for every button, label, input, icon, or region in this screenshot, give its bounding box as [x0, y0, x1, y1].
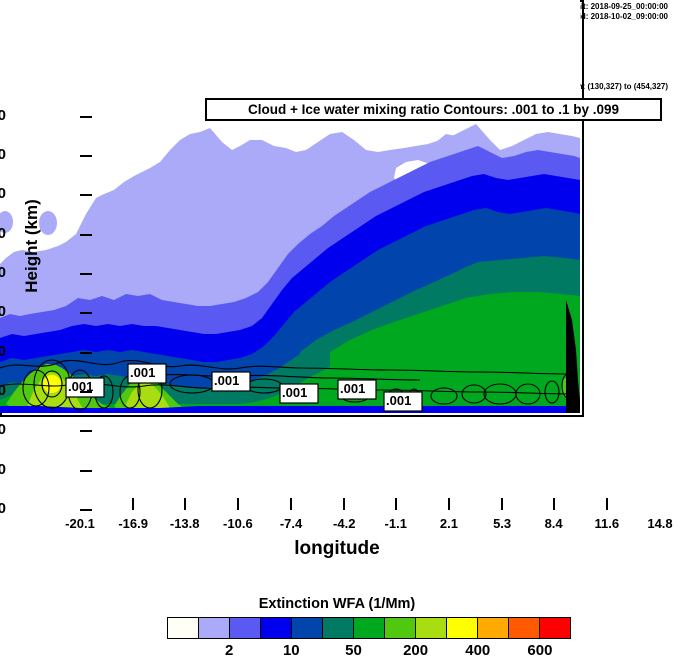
y-tick-label: 7.0	[0, 225, 6, 242]
colorbar-swatch	[323, 618, 354, 638]
colorbar-tick-label: 400	[448, 642, 508, 659]
colorbar-tick-label: 2	[199, 642, 259, 659]
cross-section-plot: .001 .001 .001 .001 .001 .001	[0, 0, 584, 417]
y-axis-title: Height (km)	[22, 166, 42, 326]
x-tick-mark	[237, 498, 239, 510]
colorbar-swatch	[416, 618, 447, 638]
colorbar	[167, 617, 571, 639]
colorbar-tick-label: 200	[386, 642, 446, 659]
contour-label: .001	[130, 365, 155, 380]
y-tick-mark	[80, 391, 92, 393]
colorbar-swatch	[385, 618, 416, 638]
colorbar-swatch	[199, 618, 230, 638]
y-tick-label: 8.0	[0, 185, 6, 202]
y-tick-mark	[80, 155, 92, 157]
contour-label: .001	[214, 373, 239, 388]
x-tick-mark	[184, 498, 186, 510]
y-tick-label: 10.0	[0, 107, 6, 124]
contour-label: .001	[340, 381, 365, 396]
y-tick-label: 2.0	[0, 421, 6, 438]
colorbar-swatch	[447, 618, 478, 638]
x-tick-mark	[606, 498, 608, 510]
colorbar-strip	[167, 617, 571, 639]
yellow-core	[43, 375, 61, 393]
colorbar-tick-label: 600	[510, 642, 570, 659]
y-tick-mark	[80, 430, 92, 432]
x-tick-mark	[290, 498, 292, 510]
y-tick-mark	[80, 194, 92, 196]
x-tick-mark	[448, 498, 450, 510]
contour-title-text: Cloud + Ice water mixing ratio Contours:…	[248, 102, 619, 117]
x-tick-mark	[132, 498, 134, 510]
x-tick-mark	[343, 498, 345, 510]
x-tick-mark	[395, 498, 397, 510]
green-cell-d	[518, 386, 538, 402]
colorbar-tick-label: 10	[261, 642, 321, 659]
colorbar-swatch	[354, 618, 385, 638]
y-tick-mark	[80, 352, 92, 354]
x-tick-mark	[501, 498, 503, 510]
contour-label: .001	[282, 385, 307, 400]
y-tick-label: 6.0	[0, 264, 6, 281]
colorbar-swatch	[261, 618, 292, 638]
contour-title-box: Cloud + Ice water mixing ratio Contours:…	[205, 98, 662, 121]
y-tick-label: 1.0	[0, 461, 6, 478]
green-cell-c	[486, 386, 514, 402]
y-tick-mark	[80, 273, 92, 275]
x-tick-mark	[553, 498, 555, 510]
y-tick-mark	[80, 470, 92, 472]
y-tick-mark	[80, 116, 92, 118]
colorbar-tick-label: 50	[323, 642, 383, 659]
colorbar-swatch	[509, 618, 540, 638]
colorbar-swatch	[292, 618, 323, 638]
colorbar-swatch	[230, 618, 261, 638]
y-tick-mark	[80, 312, 92, 314]
y-tick-label: 0.0	[0, 500, 6, 517]
colorbar-title: Extinction WFA (1/Mm)	[0, 596, 674, 612]
colorbar-swatch	[540, 618, 570, 638]
x-tick-label: 14.8	[625, 516, 674, 531]
x-axis-title: longitude	[0, 538, 674, 560]
y-tick-label: 4.0	[0, 343, 6, 360]
y-tick-label: 3.0	[0, 382, 6, 399]
colorbar-swatch	[168, 618, 199, 638]
contour-label: .001	[386, 393, 411, 408]
y-tick-label: 5.0	[0, 303, 6, 320]
y-tick-mark	[80, 234, 92, 236]
y-tick-mark	[80, 509, 92, 511]
y-tick-label: 9.0	[0, 146, 6, 163]
colorbar-swatch	[478, 618, 509, 638]
green-cell-b	[462, 389, 482, 403]
